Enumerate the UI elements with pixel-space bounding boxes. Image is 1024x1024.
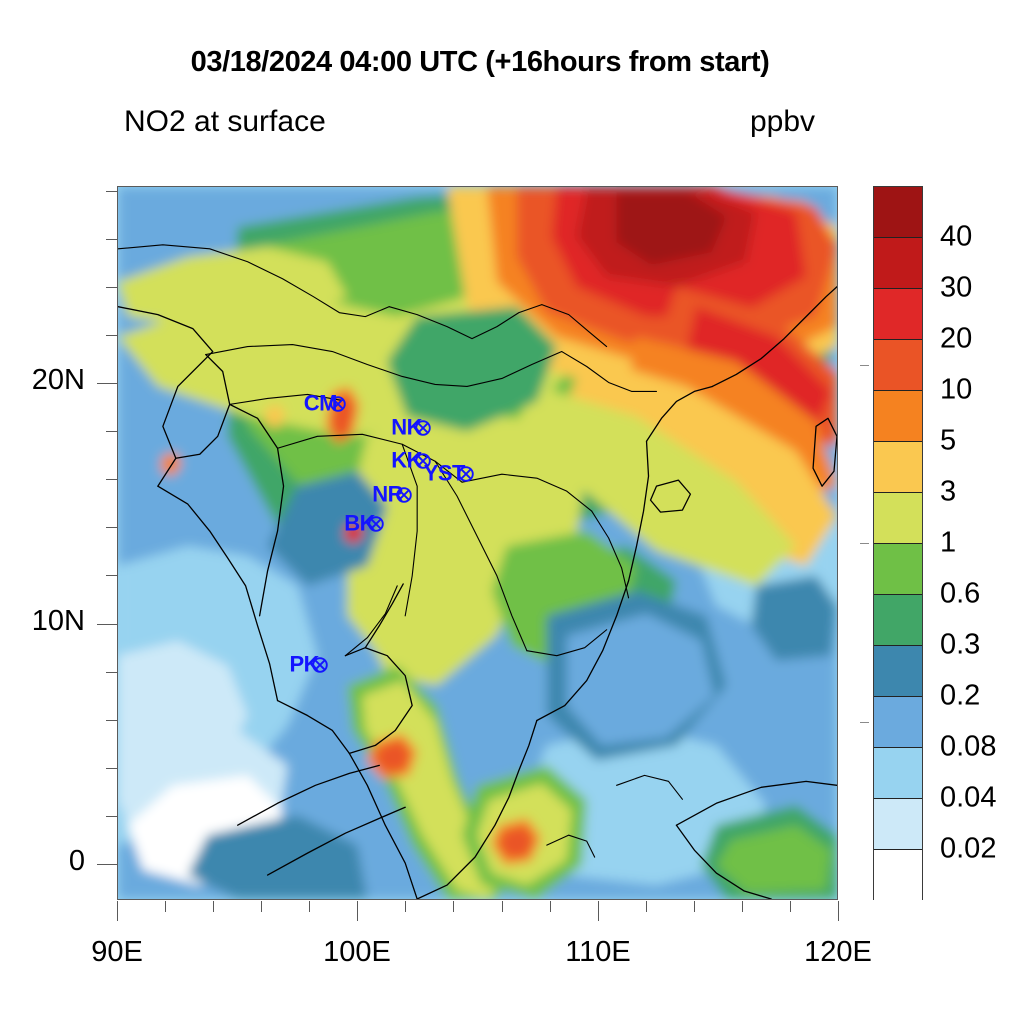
colorbar-band (874, 340, 922, 391)
colorbar-band (874, 748, 922, 799)
x-axis-tick (357, 901, 358, 921)
colorbar-band (874, 646, 922, 697)
colorbar-band (874, 238, 922, 289)
colorbar-tick-label: 0.6 (940, 578, 980, 611)
y-axis-label: 20N (0, 364, 85, 397)
colorbar[interactable] (873, 186, 923, 900)
colorbar-tick-label: 0.2 (940, 680, 980, 713)
x-axis-tick (646, 901, 647, 912)
colorbar-side-tick (860, 365, 869, 366)
x-axis-tick (405, 901, 406, 912)
x-axis-tick (261, 901, 262, 912)
colorbar-tick-label: 40 (940, 221, 972, 254)
colorbar-tick-label: 0.3 (940, 629, 980, 662)
colorbar-tick-label: 3 (940, 476, 956, 509)
colorbar-band (874, 187, 922, 238)
variable-label: NO2 at surface (124, 105, 326, 139)
no2-concentration-field (118, 187, 837, 899)
x-axis-label: 100E (282, 936, 432, 969)
y-axis-tick (106, 239, 117, 240)
x-axis-label: 120E (763, 936, 913, 969)
colorbar-side-tick (860, 543, 869, 544)
colorbar-band (874, 697, 922, 748)
colorbar-tick-label: 0.02 (940, 833, 996, 866)
colorbar-band (874, 289, 922, 340)
colorbar-band (874, 442, 922, 493)
x-axis-tick (694, 901, 695, 912)
x-axis-tick (309, 901, 310, 912)
page-title: 03/18/2024 04:00 UTC (+16hours from star… (0, 46, 960, 79)
y-axis-tick (106, 575, 117, 576)
y-axis-tick (106, 720, 117, 721)
x-axis-tick (213, 901, 214, 912)
circle-x-icon (458, 466, 475, 483)
y-axis-tick (106, 191, 117, 192)
colorbar-band (874, 391, 922, 442)
x-axis-tick (790, 901, 791, 912)
colorbar-tick-label: 1 (940, 527, 956, 560)
y-axis-tick (106, 816, 117, 817)
y-axis-tick (106, 479, 117, 480)
x-axis-tick (502, 901, 503, 912)
circle-x-icon (396, 487, 413, 504)
colorbar-tick-label: 20 (940, 323, 972, 356)
circle-x-icon (330, 396, 347, 413)
x-axis-label: 90E (42, 936, 192, 969)
colorbar-band (874, 799, 922, 850)
y-axis-tick (106, 287, 117, 288)
y-axis-label: 10N (0, 605, 85, 638)
x-axis-tick (742, 901, 743, 912)
y-axis-tick (106, 335, 117, 336)
colorbar-tick-label: 0.04 (940, 782, 996, 815)
colorbar-band (874, 493, 922, 544)
y-axis-tick (97, 624, 117, 625)
colorbar-band (874, 850, 922, 901)
units-label: ppbv (750, 105, 815, 139)
colorbar-side-tick (860, 722, 869, 723)
colorbar-band (874, 544, 922, 595)
y-axis-tick (106, 431, 117, 432)
x-axis-tick (550, 901, 551, 912)
x-axis-label: 110E (523, 936, 673, 969)
y-axis-tick (106, 527, 117, 528)
colorbar-tick-label: 0.08 (940, 731, 996, 764)
circle-x-icon (312, 657, 329, 674)
y-axis-tick (106, 768, 117, 769)
colorbar-tick-label: 30 (940, 272, 972, 305)
map-plot-area[interactable]: WRF-Chem_NCAR_YSU (117, 186, 838, 900)
colorbar-tick-label: 10 (940, 374, 972, 407)
x-axis-tick (117, 901, 118, 921)
x-axis-tick (838, 901, 839, 921)
y-axis-tick (97, 383, 117, 384)
y-axis-tick (106, 672, 117, 673)
y-axis-label: 0 (0, 845, 85, 878)
circle-x-icon (368, 516, 385, 533)
x-axis-tick (165, 901, 166, 912)
y-axis-tick (97, 864, 117, 865)
circle-x-icon (415, 420, 432, 437)
x-axis-tick (598, 901, 599, 921)
x-axis-tick (453, 901, 454, 912)
colorbar-tick-label: 5 (940, 425, 956, 458)
colorbar-band (874, 595, 922, 646)
